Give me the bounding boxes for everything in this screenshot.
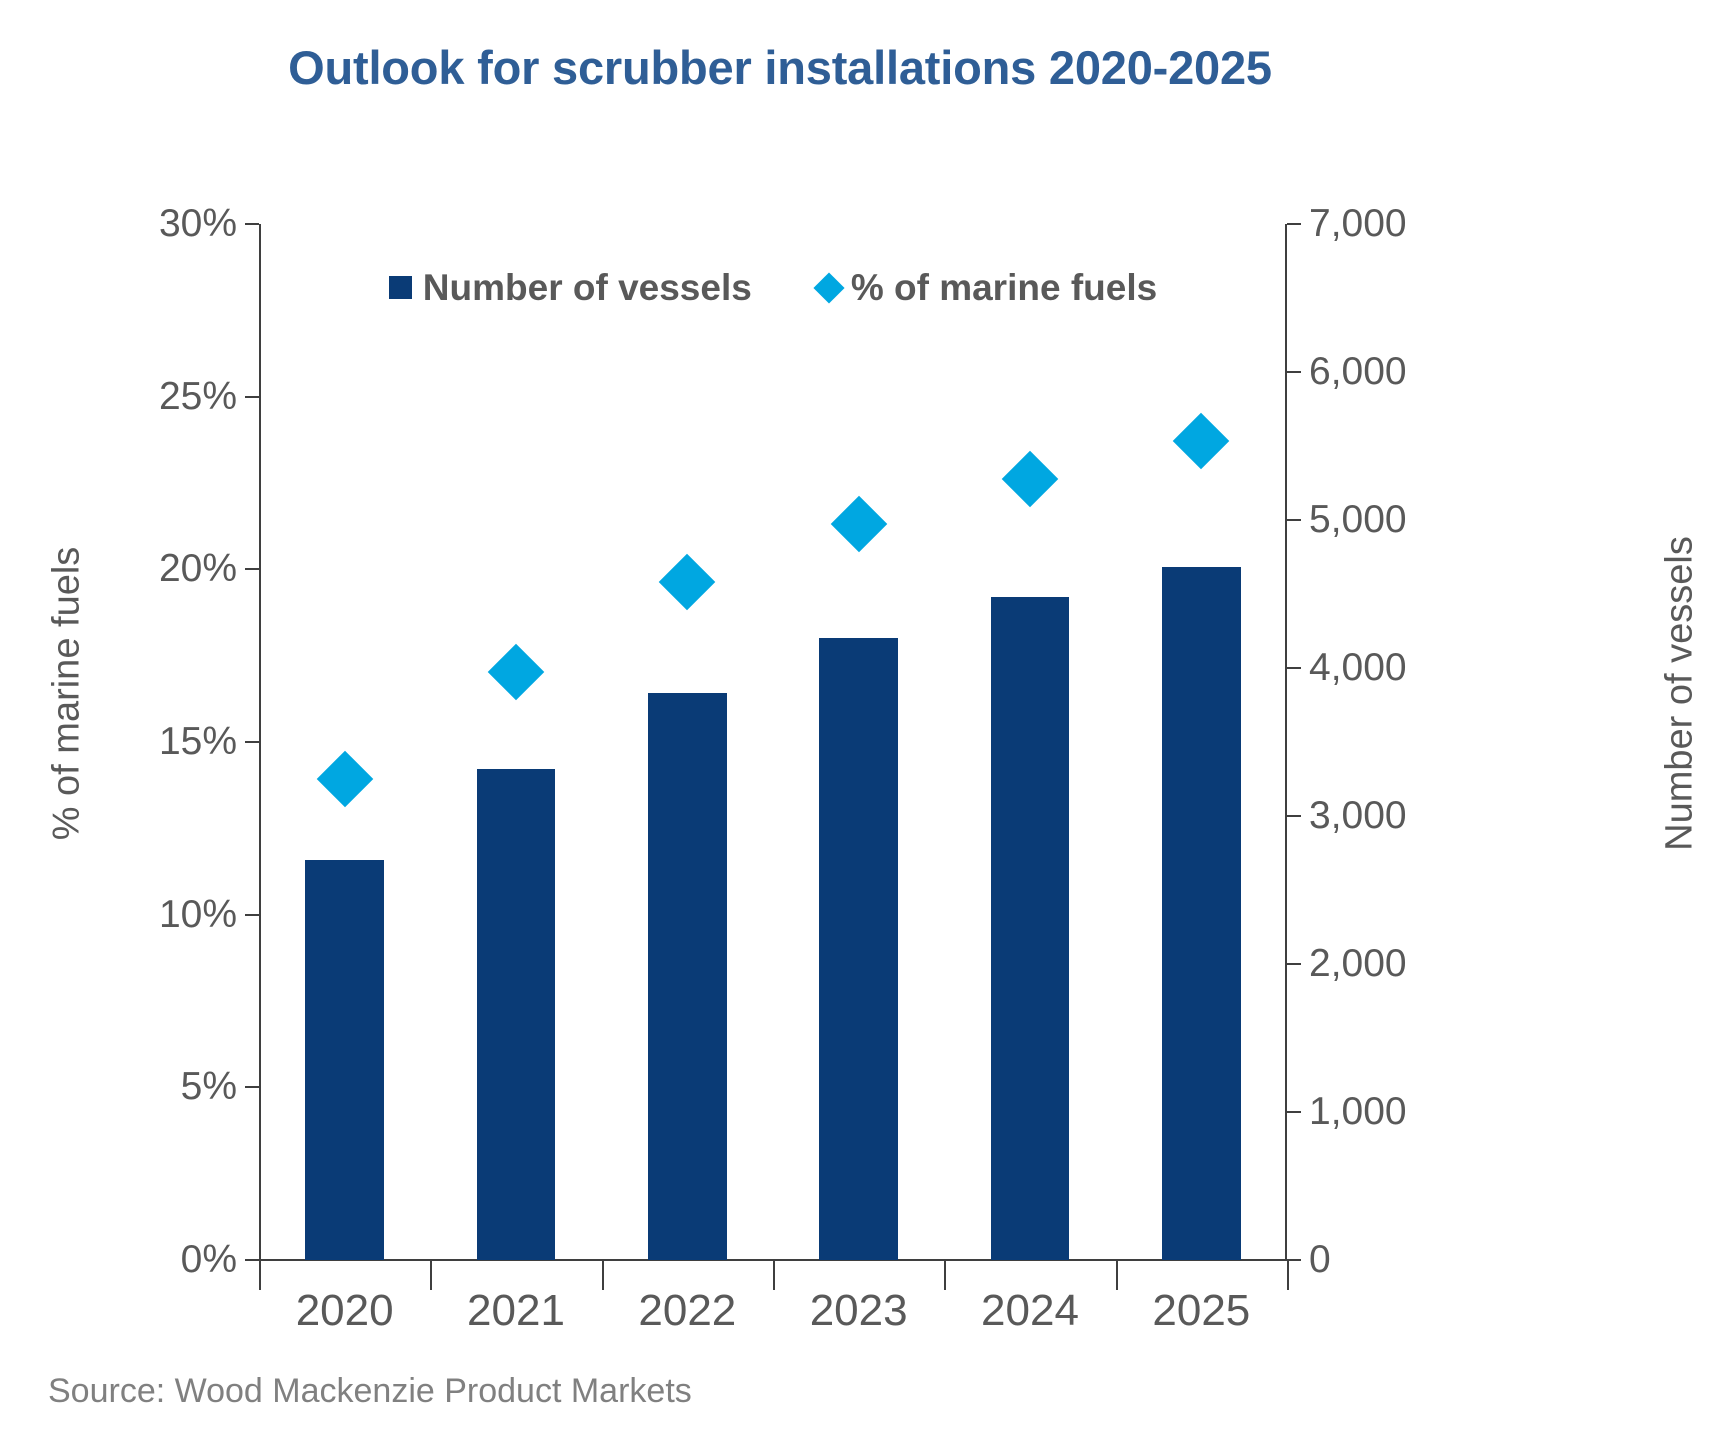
bar-2025 — [1162, 567, 1241, 1260]
x-axis-tick-label: 2020 — [296, 1286, 394, 1336]
right-axis-tick — [1287, 223, 1301, 225]
left-axis-tick — [245, 223, 259, 225]
legend-item-1[interactable]: Number of vessels — [389, 269, 752, 306]
bar-2023 — [819, 638, 898, 1260]
left-axis-tick — [245, 914, 259, 916]
bar-2024 — [991, 597, 1070, 1260]
marker-2024 — [1002, 451, 1059, 508]
legend-square-icon — [389, 276, 412, 299]
plot-area: 0%5%10%15%20%25%30% 01,0002,0003,0004,00… — [259, 224, 1287, 1260]
marker-2025 — [1173, 413, 1230, 470]
x-axis-tick — [259, 1260, 261, 1290]
x-axis-tick-label: 2024 — [981, 1286, 1079, 1336]
legend-label: % of marine fuels — [851, 269, 1157, 306]
x-axis-tick-label: 2021 — [467, 1286, 565, 1336]
left-axis-tick-label: 10% — [0, 895, 237, 934]
marker-2022 — [659, 554, 716, 611]
left-axis-tick-label: 15% — [0, 722, 237, 761]
chart-title: Outlook for scrubber installations 2020-… — [0, 40, 1560, 95]
chart-figure: Outlook for scrubber installations 2020-… — [0, 0, 1734, 1449]
right-axis-title: Number of vessels — [1659, 384, 1702, 1004]
left-axis-tick-label: 0% — [0, 1240, 237, 1279]
bar-2021 — [477, 769, 556, 1260]
bar-2020 — [305, 860, 384, 1260]
marker-2020 — [316, 751, 373, 808]
legend-diamond-icon — [813, 272, 844, 303]
x-axis-tick-label: 2023 — [810, 1286, 908, 1336]
right-axis-tick — [1287, 519, 1301, 521]
x-axis-tick — [1287, 1260, 1289, 1290]
right-axis-tick-label: 0 — [1309, 1240, 1609, 1279]
x-axis-tick-label: 2022 — [638, 1286, 736, 1336]
right-axis-tick-label: 3,000 — [1309, 796, 1609, 835]
left-axis-tick — [245, 1086, 259, 1088]
left-axis-tick — [245, 568, 259, 570]
right-axis-tick — [1287, 815, 1301, 817]
right-axis-tick — [1287, 963, 1301, 965]
right-axis-tick-label: 6,000 — [1309, 352, 1609, 391]
x-axis-tick — [602, 1260, 604, 1290]
right-axis-tick-label: 5,000 — [1309, 500, 1609, 539]
right-axis-tick-label: 4,000 — [1309, 648, 1609, 687]
right-axis-tick-label: 2,000 — [1309, 944, 1609, 983]
right-axis-tick — [1287, 371, 1301, 373]
left-axis-tick-label: 30% — [0, 204, 237, 243]
chart-legend: Number of vessels% of marine fuels — [259, 269, 1287, 306]
marker-2023 — [830, 495, 887, 552]
legend-label: Number of vessels — [423, 269, 752, 306]
x-axis-tick — [1116, 1260, 1118, 1290]
right-axis-tick-label: 1,000 — [1309, 1092, 1609, 1131]
left-axis-tick-label: 20% — [0, 549, 237, 588]
right-axis-tick — [1287, 667, 1301, 669]
x-axis-tick — [944, 1260, 946, 1290]
source-note: Source: Wood Mackenzie Product Markets — [48, 1372, 692, 1411]
right-axis-tick — [1287, 1111, 1301, 1113]
right-axis-tick-label: 7,000 — [1309, 204, 1609, 243]
left-axis-tick — [245, 1259, 259, 1261]
left-axis-line — [259, 224, 261, 1260]
x-axis-tick-label: 2025 — [1152, 1286, 1250, 1336]
left-axis-tick-label: 25% — [0, 377, 237, 416]
marker-2021 — [488, 644, 545, 701]
left-axis-tick — [245, 741, 259, 743]
right-axis-line — [1285, 224, 1287, 1260]
right-axis-tick — [1287, 1259, 1301, 1261]
x-axis-tick — [430, 1260, 432, 1290]
x-axis-tick — [773, 1260, 775, 1290]
bar-2022 — [648, 693, 727, 1260]
left-axis-tick-label: 5% — [0, 1067, 237, 1106]
legend-item-2[interactable]: % of marine fuels — [818, 269, 1157, 306]
left-axis-tick — [245, 396, 259, 398]
